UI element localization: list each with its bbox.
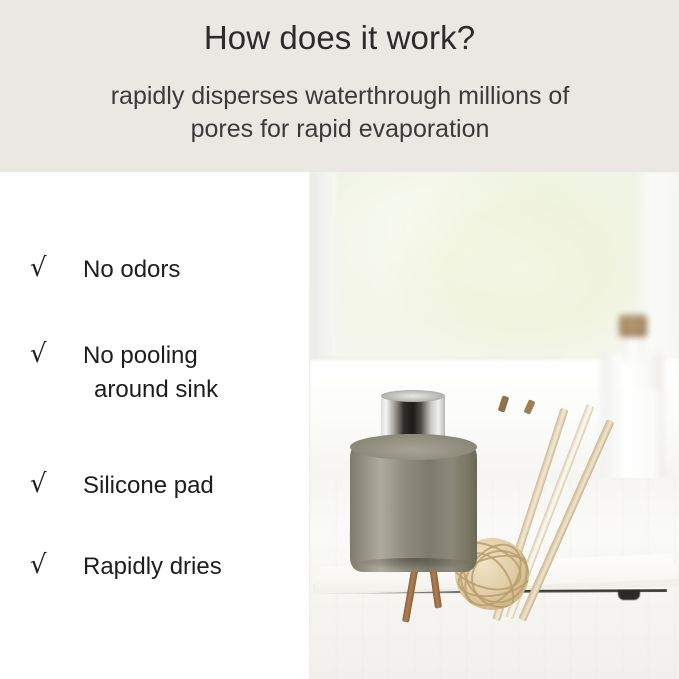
- feature-list: √ No odors √ No pooling around sink √ Si…: [0, 172, 310, 679]
- feature-label: No pooling around sink: [62, 339, 310, 407]
- feature-label-line-2: around sink: [83, 373, 310, 407]
- list-item: √ Silicone pad: [0, 469, 310, 503]
- feature-label-line-1: Silicone pad: [83, 472, 214, 499]
- list-item: √ No pooling around sink: [0, 339, 310, 407]
- page-subtitle: rapidly disperses waterthrough millions …: [60, 80, 620, 147]
- check-icon: √: [30, 339, 62, 369]
- header-band: How does it work? rapidly disperses wate…: [0, 0, 679, 172]
- reed-diffuser: [350, 390, 477, 572]
- feature-label: No odors: [62, 253, 310, 287]
- chrome-collar-top: [381, 390, 445, 402]
- background-bottle-contents: [605, 389, 659, 486]
- check-icon: √: [30, 550, 62, 580]
- feature-label-line-1: No pooling: [83, 342, 198, 369]
- page-subtitle-line-2: pores for rapid evaporation: [60, 113, 620, 146]
- feature-label-line-1: No odors: [83, 256, 180, 283]
- ceramic-bottle-shoulder: [350, 434, 477, 460]
- background-cork-bottle: [601, 315, 663, 490]
- ceramic-bottle-body: [350, 442, 477, 572]
- feature-panel: √ No odors √ No pooling around sink √ Si…: [0, 172, 310, 679]
- feature-label: Silicone pad: [62, 469, 310, 503]
- list-item: √ No odors: [0, 253, 310, 287]
- page-subtitle-line-1: rapidly disperses waterthrough millions …: [60, 80, 620, 113]
- tray-foot: [618, 590, 640, 600]
- check-icon: √: [30, 253, 62, 283]
- product-photo: [310, 172, 679, 679]
- feature-label: Rapidly dries: [62, 550, 310, 584]
- ceramic-bottle-base-shadow: [354, 558, 473, 570]
- infographic-page: How does it work? rapidly disperses wate…: [0, 0, 679, 679]
- cork-stopper-icon: [619, 315, 647, 337]
- feature-label-line-1: Rapidly dries: [83, 553, 222, 580]
- list-item: √ Rapidly dries: [0, 550, 310, 584]
- page-title: How does it work?: [0, 20, 679, 56]
- check-icon: √: [30, 469, 62, 499]
